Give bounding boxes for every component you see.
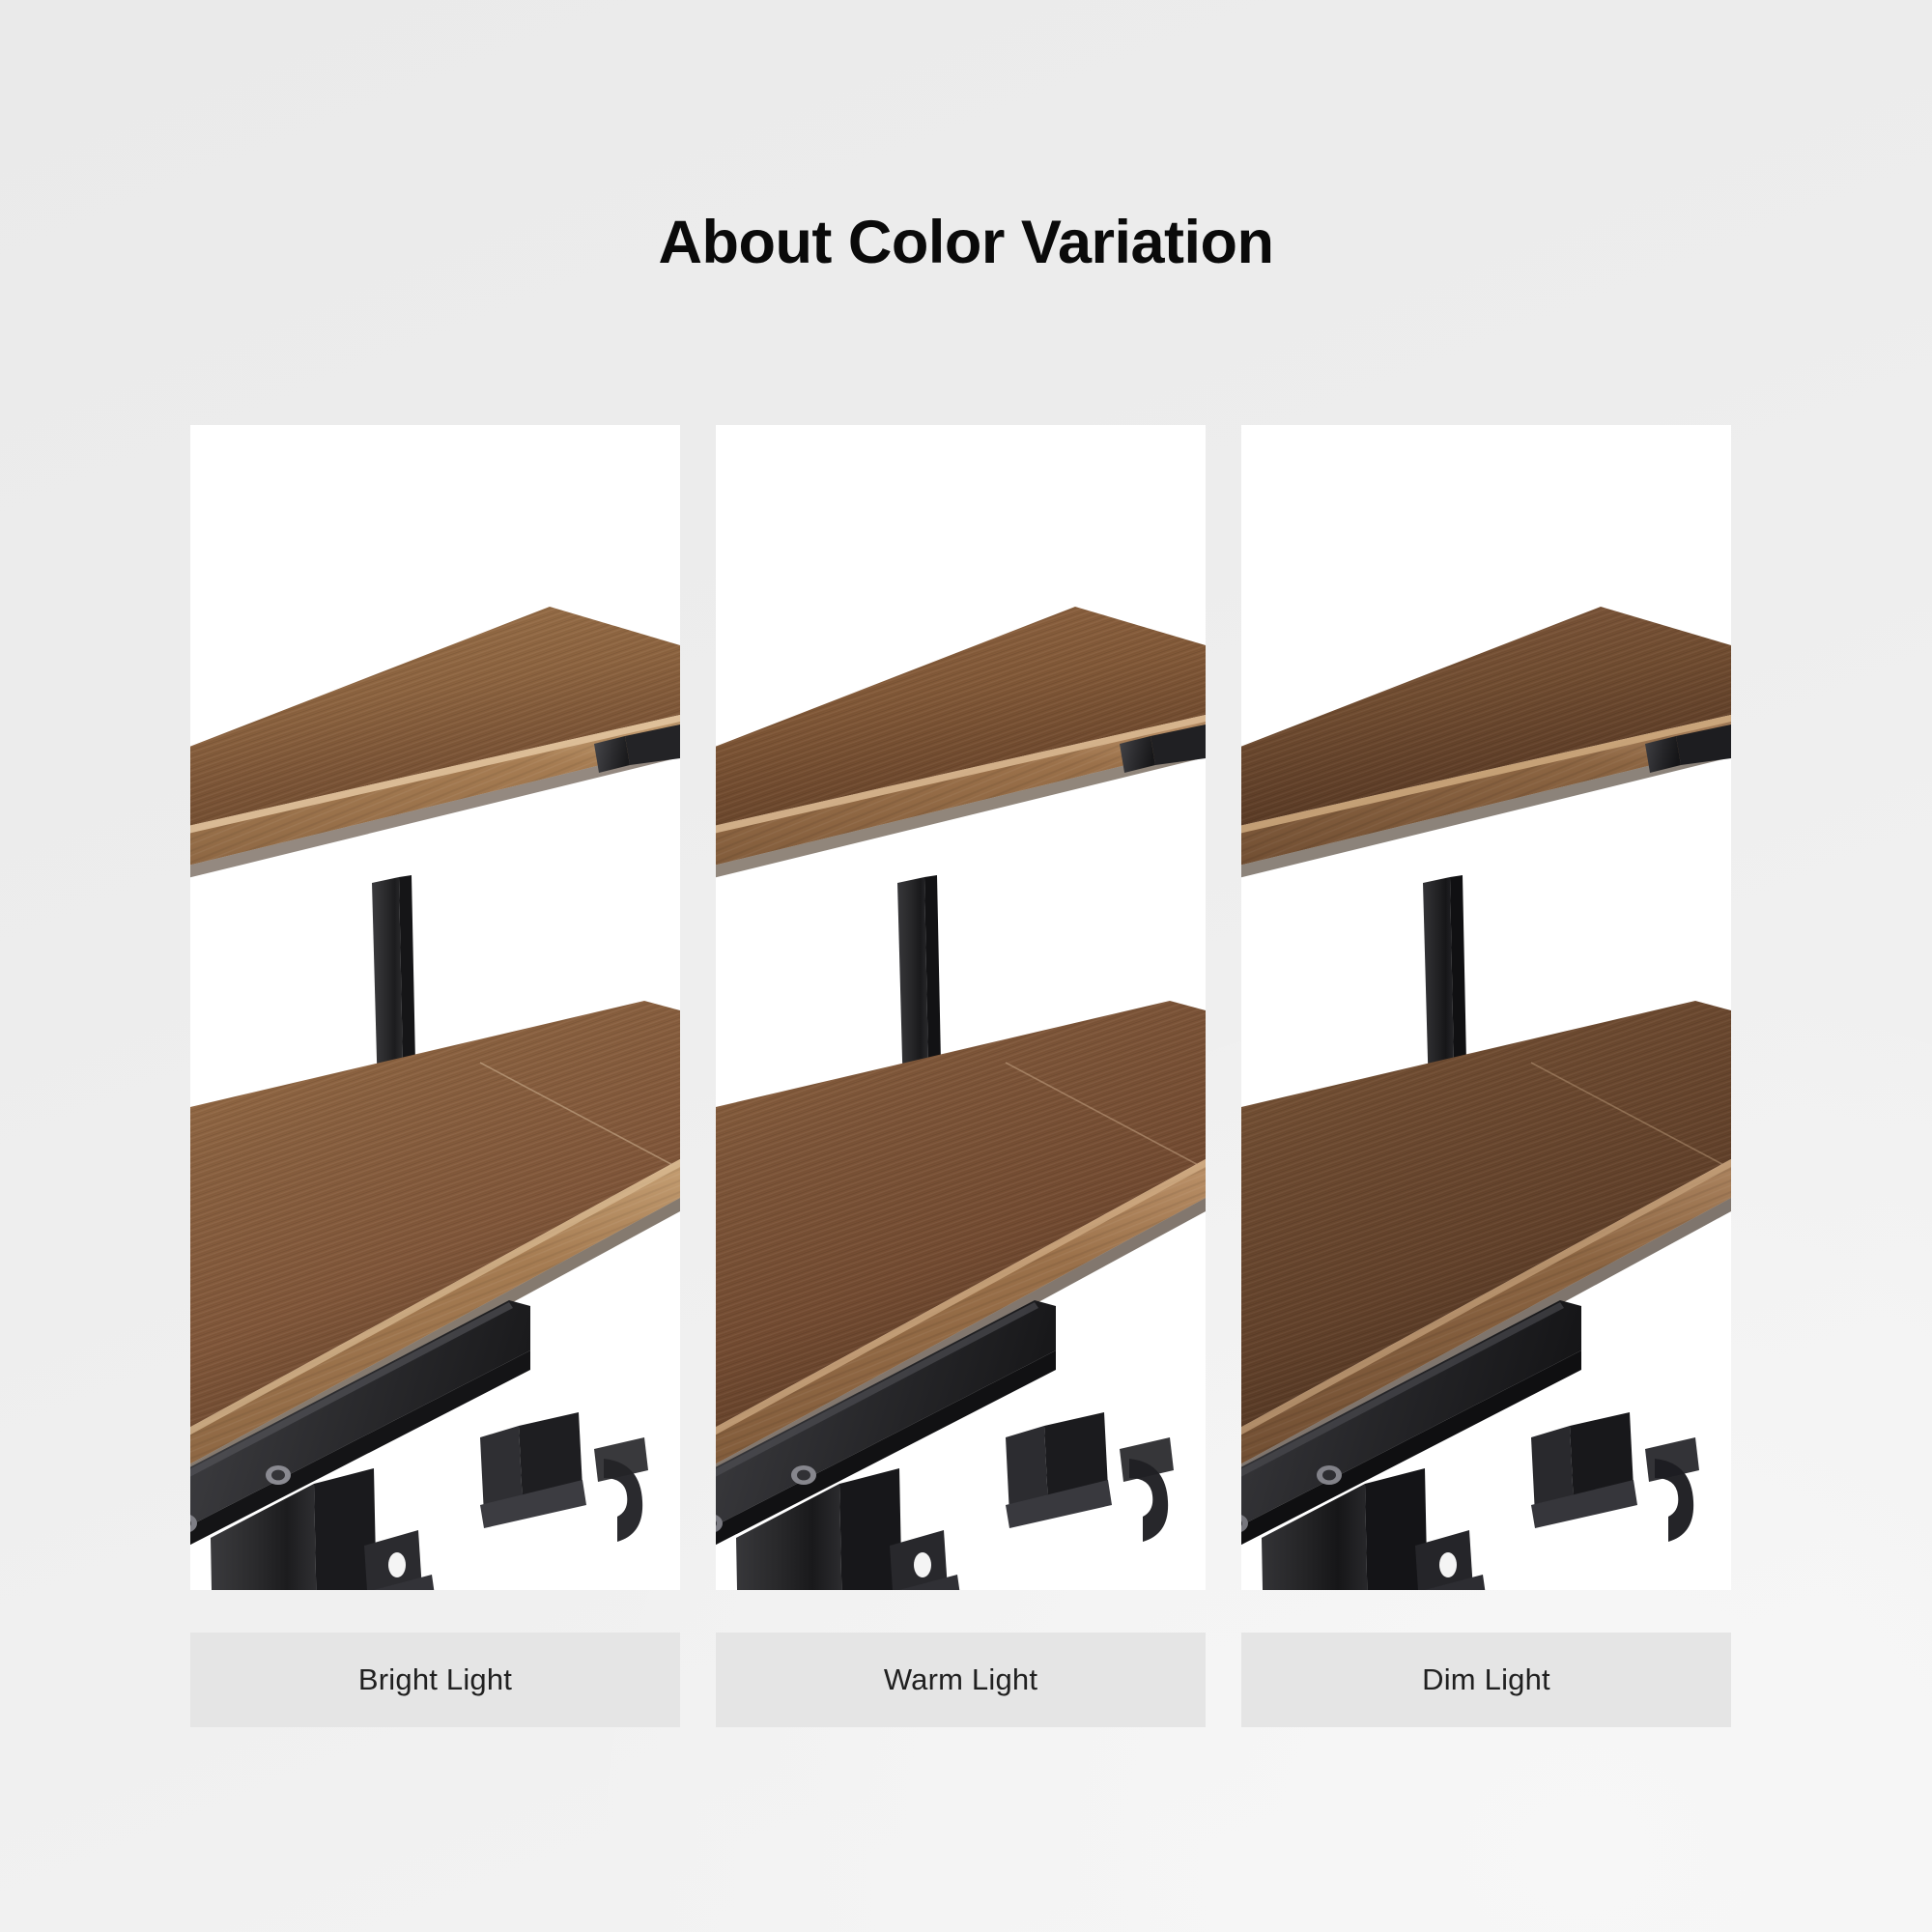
desk-illustration [716, 425, 1206, 1590]
product-detail-image: About Color Variation [0, 0, 1932, 1932]
page-title: About Color Variation [0, 213, 1932, 273]
desk-illustration [1241, 425, 1731, 1590]
panel-caption-dim-light: Dim Light [1241, 1633, 1731, 1727]
comparison-panel-row: Bright Light [190, 425, 1731, 1729]
panel-caption-bright-light: Bright Light [190, 1633, 680, 1727]
caption-label: Dim Light [1422, 1662, 1550, 1697]
desk-illustration [190, 425, 680, 1590]
caption-label: Warm Light [884, 1662, 1037, 1697]
comparison-panel-warm-light: Warm Light [716, 425, 1206, 1729]
panel-caption-warm-light: Warm Light [716, 1633, 1206, 1727]
comparison-panel-dim-light: Dim Light [1241, 425, 1731, 1729]
comparison-panel-bright-light: Bright Light [190, 425, 680, 1729]
product-photo-warm-light [716, 425, 1206, 1590]
caption-label: Bright Light [358, 1662, 512, 1697]
product-photo-bright-light [190, 425, 680, 1590]
product-photo-dim-light [1241, 425, 1731, 1590]
